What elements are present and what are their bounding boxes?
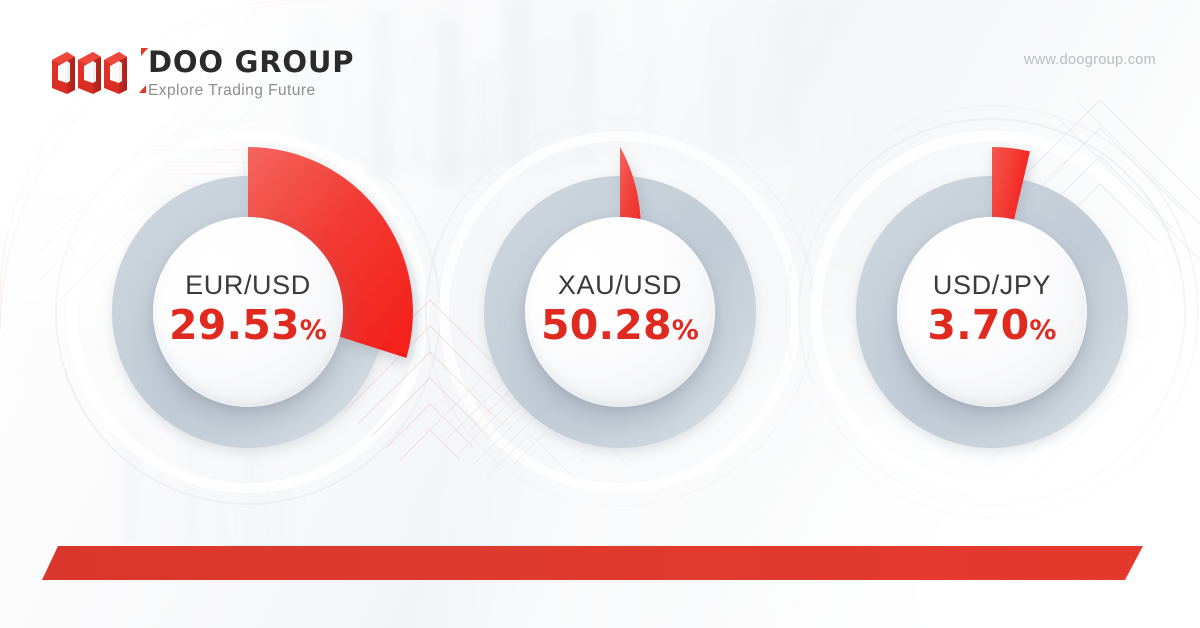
gauge-percent-symbol: % <box>300 315 327 346</box>
gauge-value-number: 50.28 <box>541 301 672 349</box>
gauge-eur-usd[interactable]: EUR/USD 29.53% <box>68 132 428 492</box>
gauge-value: 29.53% <box>169 302 327 354</box>
gauge-group: EUR/USD 29.53% <box>0 0 1200 628</box>
gauge-percent-symbol: % <box>1029 315 1056 346</box>
gauge-center-hub: EUR/USD 29.53% <box>153 217 343 407</box>
gauge-value-number: 3.70 <box>927 301 1029 349</box>
gauge-value: 50.28% <box>541 302 699 354</box>
poster-canvas: DOO GROUP Explore Trading Future www.doo… <box>0 0 1200 628</box>
gauge-center-hub: USD/JPY 3.70% <box>897 217 1087 407</box>
gauge-pair-label: USD/JPY <box>933 270 1051 300</box>
gauge-pair-label: EUR/USD <box>185 270 311 300</box>
footer-bar: Doo Group © All Rights Reserved. <box>0 544 1200 588</box>
gauge-usd-jpy[interactable]: USD/JPY 3.70% <box>812 132 1172 492</box>
gauge-center-hub: XAU/USD 50.28% <box>525 217 715 407</box>
footer-bar-shape <box>0 544 1200 588</box>
gauge-percent-symbol: % <box>672 315 699 346</box>
gauge-value-number: 29.53 <box>169 301 300 349</box>
gauge-value: 3.70% <box>927 302 1056 354</box>
gauge-xau-usd[interactable]: XAU/USD 50.28% <box>440 132 800 492</box>
gauge-pair-label: XAU/USD <box>558 270 682 300</box>
